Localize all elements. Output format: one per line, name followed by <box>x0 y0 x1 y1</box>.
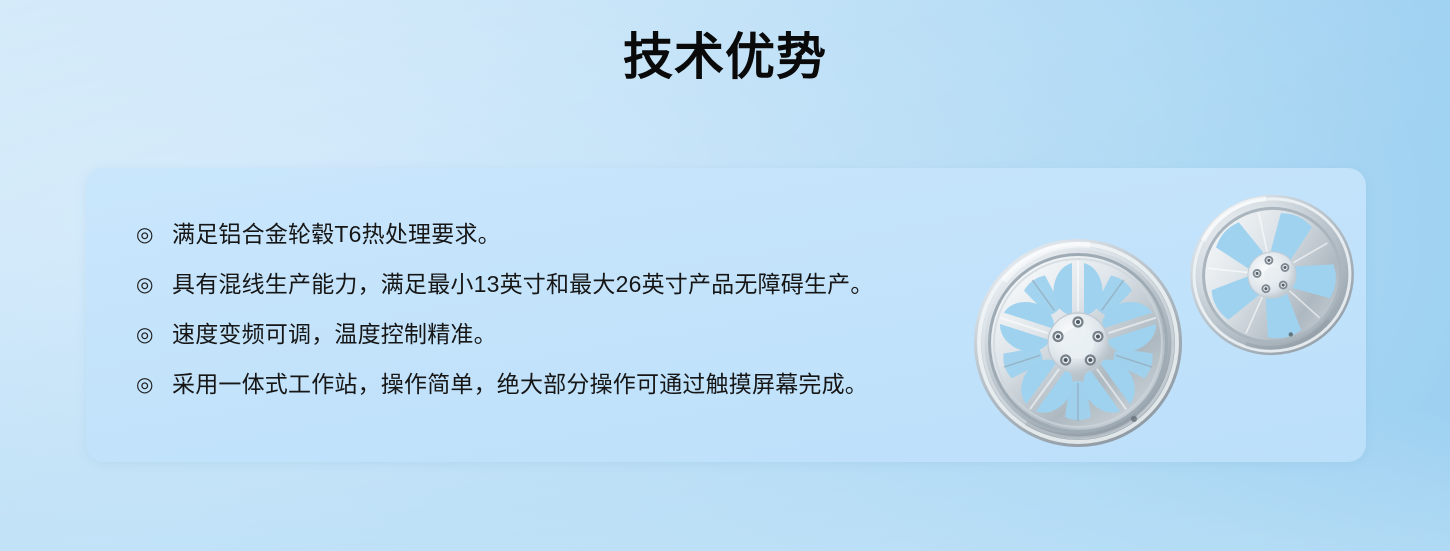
feature-text: 采用一体式工作站，操作简单，绝大部分操作可通过触摸屏幕完成。 <box>172 366 868 402</box>
feature-text: 速度变频可调，温度控制精准。 <box>172 316 497 352</box>
feature-list: ◎ 满足铝合金轮毂T6热处理要求。 ◎ 具有混线生产能力，满足最小13英寸和最大… <box>136 216 996 416</box>
feature-text: 满足铝合金轮毂T6热处理要求。 <box>172 216 501 252</box>
double-circle-bullet-icon: ◎ <box>136 316 172 352</box>
rear-alloy-wheel-image <box>1187 190 1357 360</box>
list-item: ◎ 具有混线生产能力，满足最小13英寸和最大26英寸产品无障碍生产。 <box>136 266 996 316</box>
alloy-wheel-illustration <box>940 165 1410 465</box>
slide-canvas: 技术优势 ◎ 满足铝合金轮毂T6热处理要求。 ◎ 具有混线生产能力，满足最小13… <box>0 0 1450 551</box>
front-alloy-wheel-image <box>970 235 1186 451</box>
list-item: ◎ 满足铝合金轮毂T6热处理要求。 <box>136 216 996 266</box>
double-circle-bullet-icon: ◎ <box>136 266 172 302</box>
feature-text: 具有混线生产能力，满足最小13英寸和最大26英寸产品无障碍生产。 <box>172 266 874 302</box>
double-circle-bullet-icon: ◎ <box>136 216 172 252</box>
page-title: 技术优势 <box>0 28 1450 86</box>
list-item: ◎ 采用一体式工作站，操作简单，绝大部分操作可通过触摸屏幕完成。 <box>136 366 996 416</box>
double-circle-bullet-icon: ◎ <box>136 366 172 402</box>
list-item: ◎ 速度变频可调，温度控制精准。 <box>136 316 996 366</box>
